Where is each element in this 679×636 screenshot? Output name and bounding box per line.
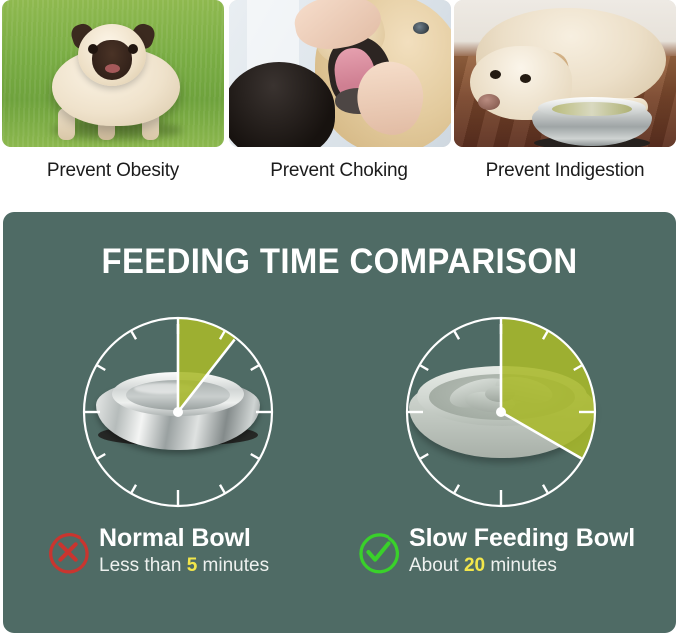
legend-sub-value: 20: [464, 555, 485, 576]
legend: Normal Bowl Less than 5 minutes Slow Fee…: [3, 525, 676, 595]
benefit-caption: Prevent Obesity: [47, 160, 179, 182]
legend-sub-suffix: minutes: [203, 555, 270, 576]
circle-check-icon: [355, 529, 401, 575]
legend-subtitle: About 20 minutes: [409, 554, 635, 577]
dial-slow-feeding-bowl: [401, 312, 601, 512]
dial-frame-normal: [78, 312, 278, 512]
dial-normal-bowl: [78, 312, 278, 512]
legend-sub-suffix: minutes: [490, 555, 557, 576]
benefit-card-indigestion[interactable]: Prevent Indigestion: [452, 0, 678, 196]
legend-sub-value: 5: [187, 555, 198, 576]
legend-item-slow-feeding-bowl: Slow Feeding Bowl About 20 minutes: [355, 525, 635, 577]
page-title: FEEDING TIME COMPARISON: [23, 242, 656, 282]
benefits-strip: Prevent Obesity Prevent Choking: [0, 0, 679, 196]
legend-title: Slow Feeding Bowl: [409, 525, 635, 552]
benefit-caption: Prevent Choking: [270, 160, 407, 182]
photo-prevent-indigestion: [454, 0, 676, 147]
legend-sub-prefix: Less than: [99, 555, 181, 576]
photo-prevent-obesity: [2, 0, 224, 147]
legend-item-normal-bowl: Normal Bowl Less than 5 minutes: [45, 525, 269, 577]
dial-chart-group: [3, 312, 676, 512]
photo-prevent-choking: [229, 0, 451, 147]
legend-title: Normal Bowl: [99, 525, 269, 552]
benefit-caption: Prevent Indigestion: [486, 160, 645, 182]
legend-subtitle: Less than 5 minutes: [99, 554, 269, 577]
legend-sub-prefix: About: [409, 555, 459, 576]
circle-x-icon: [45, 529, 91, 575]
feeding-time-comparison-panel: FEEDING TIME COMPARISON: [3, 212, 676, 633]
benefit-card-choking[interactable]: Prevent Choking: [226, 0, 452, 196]
dial-frame-slow: [401, 312, 601, 512]
benefit-card-obesity[interactable]: Prevent Obesity: [0, 0, 226, 196]
